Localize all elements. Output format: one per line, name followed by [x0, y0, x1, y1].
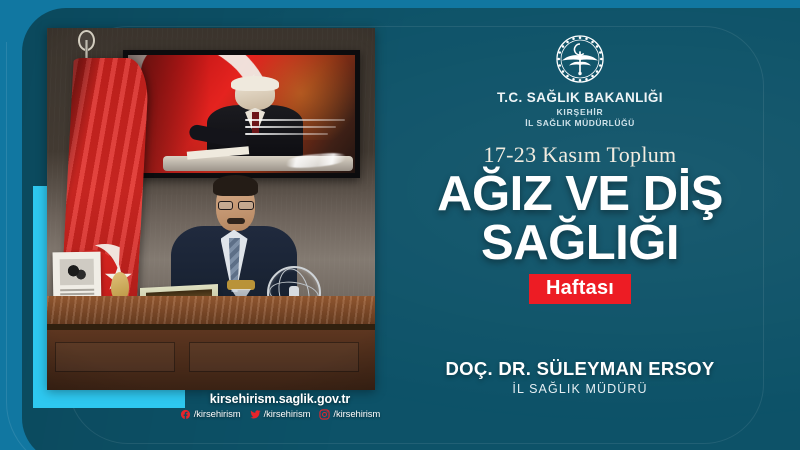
- social-link-twitter[interactable]: /kirsehirism: [250, 409, 311, 420]
- desk-drawer-left: [55, 342, 175, 372]
- desk-surface: [47, 296, 375, 324]
- social-links-row: /kirsehirism /kirsehirism /kirsehirism: [150, 409, 410, 420]
- calendar-photo: [60, 259, 94, 286]
- campaign-date-kicker: 17-23 Kasım Toplum: [400, 142, 760, 168]
- social-link-facebook[interactable]: /kirsehirism: [180, 409, 241, 420]
- desk-front-panel: [47, 330, 375, 390]
- website-url[interactable]: kirsehirism.saglik.gov.tr: [150, 392, 410, 406]
- office-desk: [47, 296, 375, 390]
- director-name: DOÇ. DR. SÜLEYMAN ERSOY: [400, 358, 760, 380]
- ataturk-quote-text: [245, 119, 349, 154]
- hourglass-top: [227, 280, 255, 290]
- ministry-logo-block: T.C. SAĞLIK BAKANLIĞI KIRŞEHİR İL SAĞLIK…: [430, 34, 730, 128]
- social-link-instagram[interactable]: /kirsehirism: [319, 409, 380, 420]
- ministry-department: İL SAĞLIK MÜDÜRLÜĞÜ: [430, 118, 730, 128]
- instagram-handle: /kirsehirism: [333, 409, 380, 420]
- desk-drawer-right: [189, 342, 359, 372]
- campaign-week-badge: Haftası: [529, 274, 631, 304]
- director-moustache: [227, 218, 245, 223]
- director-glasses: [218, 201, 254, 211]
- director-photo: [47, 28, 375, 390]
- campaign-title-line2: SAĞLIĞI: [400, 219, 760, 267]
- facebook-icon: [180, 409, 191, 420]
- ataturk-portrait-image: [128, 55, 355, 173]
- campaign-title-line1: AĞIZ VE DİŞ: [400, 170, 760, 218]
- poster-canvas: T.C. SAĞLIK BAKANLIĞI KIRŞEHİR İL SAĞLIK…: [0, 0, 800, 450]
- director-role: İL SAĞLIK MÜDÜRÜ: [400, 382, 760, 396]
- facebook-handle: /kirsehirism: [194, 409, 241, 420]
- campaign-title-block: 17-23 Kasım Toplum AĞIZ VE DİŞ SAĞLIĞI H…: [400, 142, 760, 304]
- campaign-badge-wrap: Haftası: [400, 274, 760, 304]
- ataturk-hair: [231, 76, 279, 91]
- director-hair: [213, 175, 258, 196]
- ministry-city: KIRŞEHİR: [430, 107, 730, 117]
- director-credit-block: DOÇ. DR. SÜLEYMAN ERSOY İL SAĞLIK MÜDÜRÜ: [400, 358, 760, 396]
- twitter-handle: /kirsehirism: [264, 409, 311, 420]
- twitter-icon: [250, 409, 261, 420]
- ataturk-portrait-frame: [123, 50, 360, 178]
- footer-block: kirsehirism.saglik.gov.tr /kirsehirism /…: [150, 392, 410, 420]
- ministry-name: T.C. SAĞLIK BAKANLIĞI: [430, 90, 730, 105]
- health-ministry-caduceus-emblem: [555, 34, 605, 84]
- instagram-icon: [319, 409, 330, 420]
